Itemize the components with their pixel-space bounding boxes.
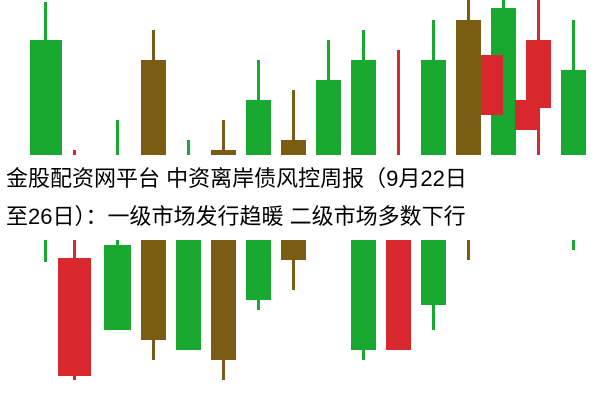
- headline-overlay: 金股配资网平台 中资离岸债风控周报（9月22日 至26日）：一级市场发行趋暖 二…: [0, 155, 600, 240]
- headline-line-1: 金股配资网平台 中资离岸债风控周报（9月22日: [6, 160, 594, 198]
- candle-accent-a: [515, 100, 537, 130]
- candle-accent-b: [481, 55, 503, 115]
- headline-line-2: 至26日）：一级市场发行趋暖 二级市场多数下行: [6, 198, 594, 236]
- screenshot-root: 金股配资网平台 中资离岸债风控周报（9月22日 至26日）：一级市场发行趋暖 二…: [0, 0, 600, 400]
